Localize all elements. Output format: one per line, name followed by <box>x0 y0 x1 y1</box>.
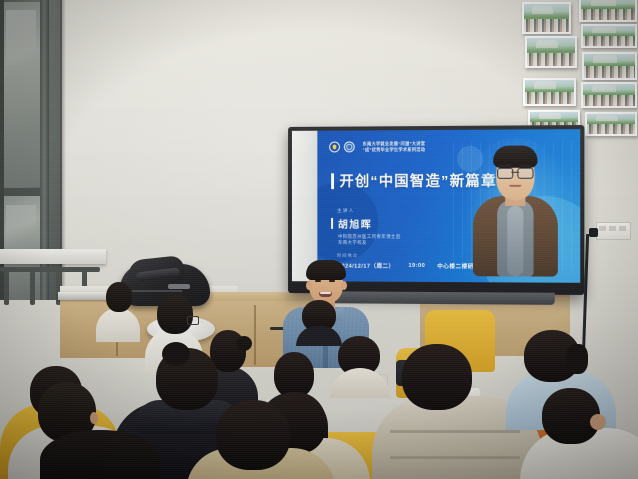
puffer-seam <box>390 456 520 459</box>
person-head <box>216 400 290 470</box>
person-head <box>106 282 132 312</box>
audience-person-back <box>330 336 390 396</box>
person-cheek <box>590 414 606 430</box>
audience-person-khaki <box>186 400 336 479</box>
person-torso <box>330 368 390 398</box>
audience-person <box>40 430 160 479</box>
audience-person <box>96 282 140 340</box>
person-torso <box>96 308 140 342</box>
ponytail <box>566 344 588 374</box>
classroom-photo: 东南大学就业发展“问道”大讲堂 “成”优秀毕业学生学术系列活动 开创“中国智造”… <box>0 0 638 479</box>
person-ear <box>90 412 98 424</box>
person-head <box>40 430 160 479</box>
puffer-seam <box>390 430 520 433</box>
glasses-icon <box>187 316 199 325</box>
person-head <box>157 294 193 334</box>
hair-bun <box>162 342 190 366</box>
audience <box>0 0 638 479</box>
audience-person-white-hood <box>520 388 638 479</box>
person-head <box>402 344 472 410</box>
